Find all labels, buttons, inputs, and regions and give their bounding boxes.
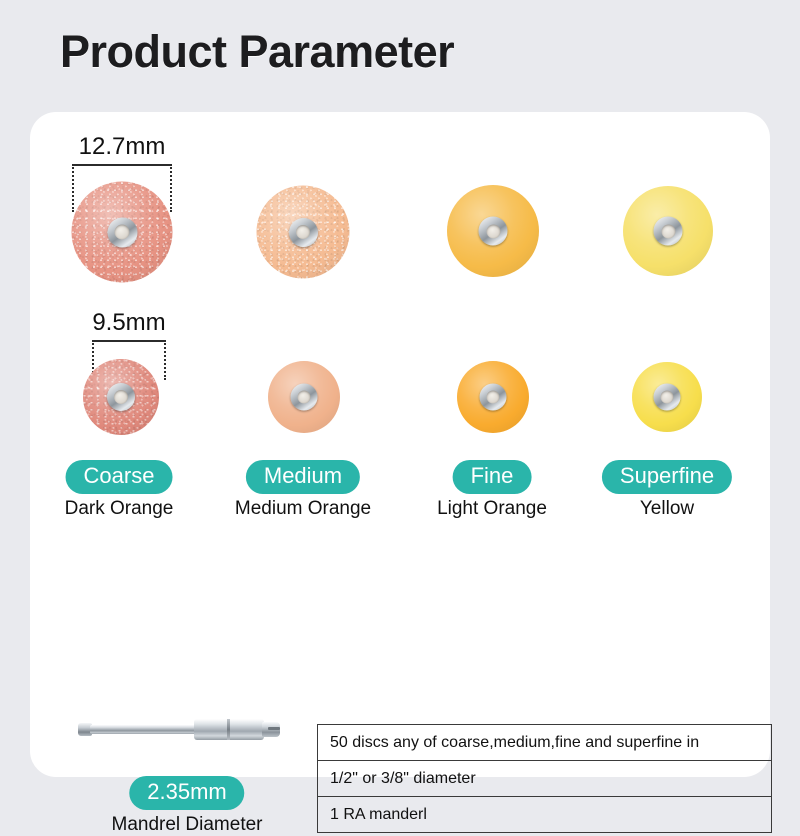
- grit-color-label-superfine: Yellow: [640, 498, 694, 520]
- disc-hub: [479, 217, 508, 246]
- spec-row-discs: 50 discs any of coarse,medium,fine and s…: [318, 725, 772, 761]
- grit-color-label-coarse: Dark Orange: [65, 498, 174, 520]
- table-row: 1/2" or 3/8" diameter: [318, 761, 772, 797]
- grit-badge-medium[interactable]: Medium: [246, 460, 360, 494]
- dimension-line-large: [72, 164, 172, 166]
- disc-face: [72, 182, 173, 283]
- disc-fine-small: [457, 361, 529, 433]
- spec-table: 50 discs any of coarse,medium,fine and s…: [317, 724, 772, 833]
- disc-hub: [107, 383, 135, 411]
- disc-face: [447, 185, 539, 277]
- disc-coarse-large: [72, 182, 173, 283]
- grit-color-label-fine: Light Orange: [437, 498, 547, 520]
- table-row: 1 RA manderl: [318, 797, 772, 833]
- disc-hub: [480, 384, 507, 411]
- mandrel-illustration: [78, 712, 280, 746]
- product-parameter-card: 12.7mm 9.5mm: [30, 112, 770, 777]
- disc-superfine-large: [623, 186, 713, 276]
- disc-hub: [289, 218, 318, 247]
- page-title: Product Parameter: [60, 26, 454, 78]
- mandrel-shaft: [90, 725, 198, 734]
- disc-face: [268, 361, 340, 433]
- disc-hub: [654, 384, 681, 411]
- grit-badge-fine[interactable]: Fine: [453, 460, 532, 494]
- dimension-label-large: 12.7mm: [79, 133, 166, 161]
- mandrel-groove: [227, 719, 230, 740]
- disc-hub-hole: [298, 391, 311, 404]
- mandrel-diameter-caption: Mandrel Diameter: [112, 814, 263, 836]
- disc-hub-hole: [486, 224, 500, 238]
- disc-hub-hole: [114, 390, 128, 404]
- disc-hub: [291, 384, 318, 411]
- disc-hub-hole: [115, 225, 130, 240]
- disc-face: [83, 359, 159, 435]
- disc-hub-hole: [661, 391, 674, 404]
- disc-face: [623, 186, 713, 276]
- dimension-tick-right-small: [164, 340, 166, 380]
- disc-grid: 12.7mm 9.5mm: [30, 112, 770, 522]
- dimension-label-small: 9.5mm: [92, 309, 165, 337]
- disc-hub-hole: [296, 225, 310, 239]
- disc-face: [632, 362, 702, 432]
- mandrel-tip-slot: [268, 727, 280, 730]
- disc-medium-small: [268, 361, 340, 433]
- disc-hub: [654, 217, 683, 246]
- spec-row-diameter: 1/2" or 3/8" diameter: [318, 761, 772, 797]
- disc-coarse-small: [83, 359, 159, 435]
- disc-hub: [107, 217, 137, 247]
- spec-row-mandrel: 1 RA manderl: [318, 797, 772, 833]
- disc-medium-large: [257, 186, 350, 279]
- disc-superfine-small: [632, 362, 702, 432]
- disc-hub-hole: [661, 224, 675, 238]
- grit-badge-coarse[interactable]: Coarse: [66, 460, 173, 494]
- disc-face: [457, 361, 529, 433]
- disc-hub-hole: [487, 391, 500, 404]
- grit-color-label-medium: Medium Orange: [235, 498, 371, 520]
- grit-badge-superfine[interactable]: Superfine: [602, 460, 732, 494]
- table-row: 50 discs any of coarse,medium,fine and s…: [318, 725, 772, 761]
- mandrel-diameter-badge[interactable]: 2.35mm: [129, 776, 244, 810]
- disc-fine-large: [447, 185, 539, 277]
- disc-face: [257, 186, 350, 279]
- dimension-line-small: [92, 340, 166, 342]
